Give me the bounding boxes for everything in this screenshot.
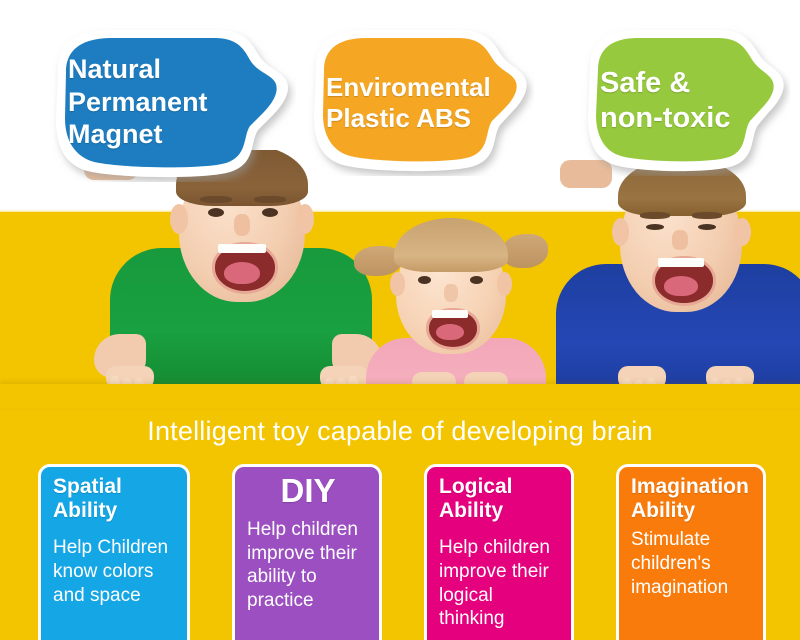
feature-card-imagination-ability[interactable]: Imagination Ability Stimulate children's…	[616, 464, 766, 640]
card-title: Spatial Ability	[53, 475, 177, 522]
feature-card-spatial-ability[interactable]: Spatial Ability Help Children know color…	[38, 464, 190, 640]
eye-right	[262, 208, 278, 217]
eye-left	[208, 208, 224, 217]
nose	[444, 284, 458, 302]
badge-label: Safe & non-toxic	[600, 66, 731, 136]
product-infographic-poster: Natural Permanent Magnet Enviromental Pl…	[0, 0, 800, 640]
ear-left	[612, 218, 629, 246]
badge-label: Enviromental Plastic ABS	[326, 72, 491, 134]
tagline: Intelligent toy capable of developing br…	[0, 416, 800, 447]
ear-right	[497, 272, 512, 296]
card-body: Stimulate children's imagination	[631, 528, 753, 599]
eye-left	[418, 276, 431, 284]
children-photo	[0, 150, 800, 400]
ear-right	[734, 218, 751, 246]
feature-card-logical-ability[interactable]: Logical Ability Help children improve th…	[424, 464, 574, 640]
badge-label: Natural Permanent Magnet	[68, 53, 208, 150]
eyebrow-left	[640, 212, 670, 219]
badge-natural-permanent-magnet: Natural Permanent Magnet	[44, 24, 296, 182]
eyebrow-right	[254, 196, 286, 203]
card-title: DIY	[247, 473, 369, 510]
ear-right	[296, 204, 314, 234]
feature-card-diy[interactable]: DIY Help children improve their ability …	[232, 464, 382, 640]
card-title: Imagination Ability	[631, 475, 753, 522]
pigtail-right	[502, 234, 548, 268]
card-body: Help children improve their logical thin…	[439, 536, 561, 631]
child-right-blue-shirt	[560, 160, 800, 400]
badge-enviromental-plastic-abs: Enviromental Plastic ABS	[304, 24, 534, 176]
upper-teeth	[658, 258, 704, 267]
ear-left	[390, 272, 405, 296]
card-body: Help children improve their ability to p…	[247, 518, 369, 613]
tongue	[224, 262, 260, 284]
nose	[672, 230, 688, 250]
card-title: Logical Ability	[439, 475, 561, 522]
eyebrow-right	[692, 212, 722, 219]
card-body: Help Children know colors and space	[53, 536, 177, 607]
eye-right	[470, 276, 483, 284]
nose	[234, 214, 250, 236]
child-middle-pink-shirt	[360, 212, 550, 400]
upper-teeth	[432, 310, 468, 318]
upper-teeth	[218, 244, 266, 253]
eyebrow-left	[200, 196, 232, 203]
child-left-green-shirt	[84, 150, 384, 400]
ear-left	[170, 204, 188, 234]
badge-safe-non-toxic: Safe & non-toxic	[578, 24, 790, 176]
hair	[394, 218, 508, 272]
eye-right	[698, 224, 716, 230]
tongue	[436, 324, 464, 340]
held-board-edge	[0, 384, 800, 408]
eye-left	[646, 224, 664, 230]
tongue	[664, 276, 698, 296]
